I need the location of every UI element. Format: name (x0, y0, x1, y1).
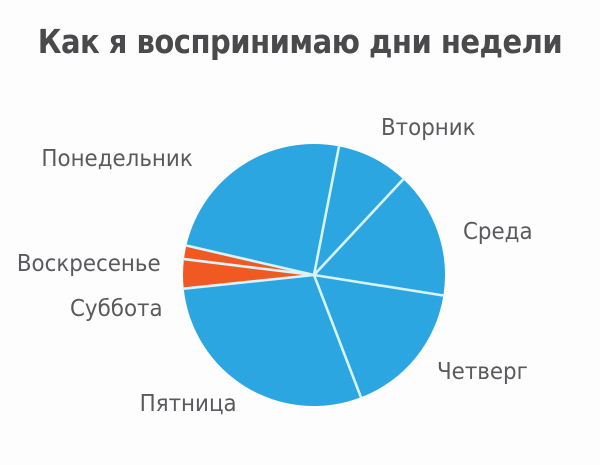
pie-label-ponedelnik: Понедельник (41, 146, 192, 172)
pie-label-sreda: Среда (463, 219, 533, 245)
pie-label-vtornik: Вторник (381, 115, 476, 141)
pie-label-pyatnica: Пятница (140, 391, 237, 417)
chart-canvas: Как я воспринимаю дни недели Понедельник… (0, 0, 600, 465)
pie-label-voskresenye: Воскресенье (17, 251, 161, 277)
pie-label-subbota: Суббота (70, 296, 163, 322)
pie-label-chetverg: Четверг (437, 359, 528, 385)
